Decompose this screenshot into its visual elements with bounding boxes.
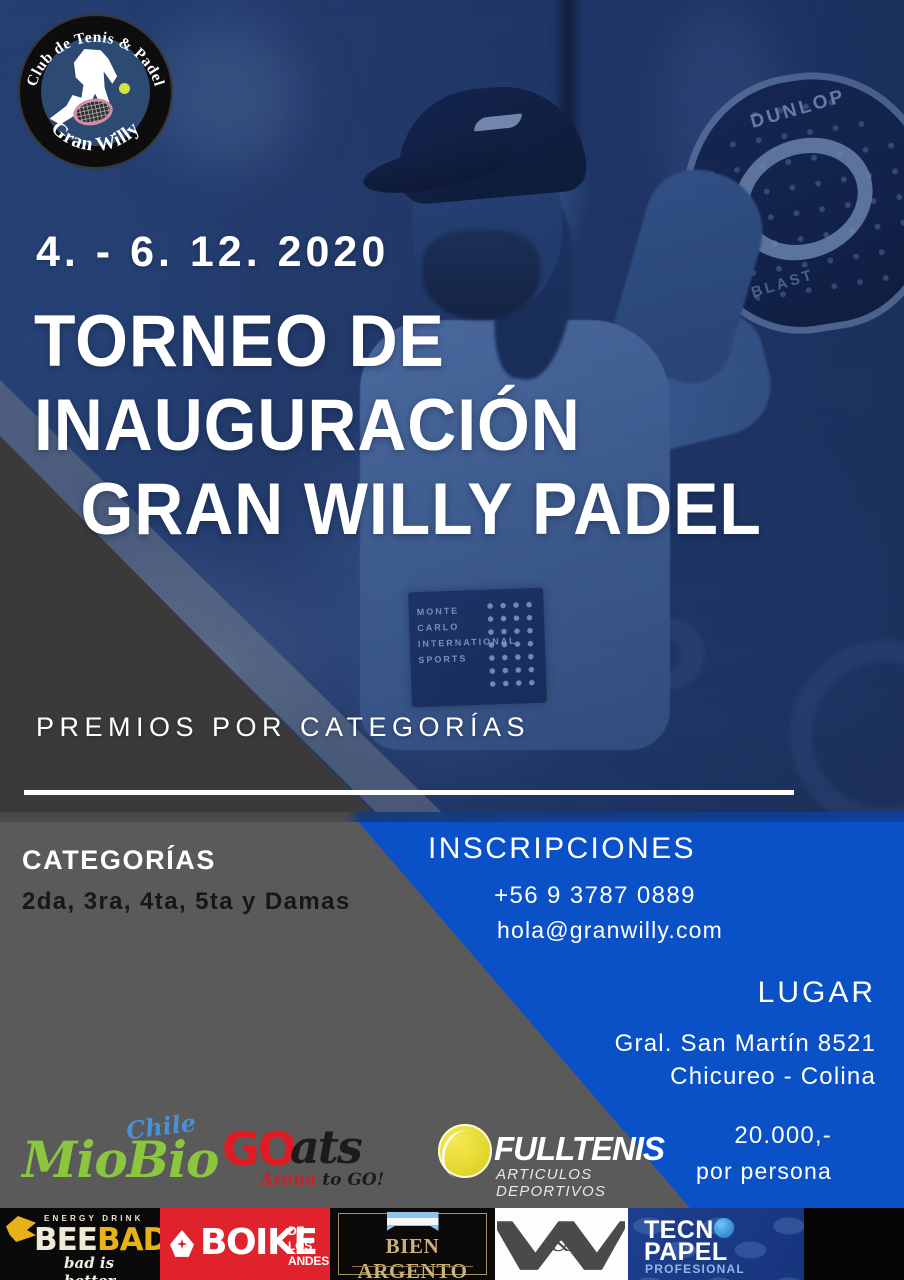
categories-list: 2da, 3ra, 4ta, 5ta y Damas (22, 888, 351, 916)
inscriptions-email[interactable]: hola@granwilly.com (430, 917, 790, 944)
tecnopapel-line-3: PROFESIONAL (645, 1262, 745, 1276)
fulltenis-sub: ARTICULOS DEPORTIVOS (496, 1166, 638, 1200)
miobio-name: MioBio (22, 1130, 218, 1189)
beebad-a: BEE (34, 1222, 97, 1258)
tournament-poster: DP P DUNLOP BLAST MONTE CARLO (0, 0, 904, 1280)
page-title: TORNEO DE INAUGURACIÓN GRAN WILLY PADEL (34, 300, 769, 552)
venue-city: Chicureo - Colina (670, 1063, 876, 1091)
info-band-top-edge (0, 812, 904, 822)
venue-heading: LUGAR (758, 976, 876, 1010)
price-amount: 20.000,- (734, 1122, 832, 1150)
title-line-3: GRAN WILLY PADEL (81, 468, 769, 552)
prizes-text: PREMIOS POR CATEGORÍAS (36, 712, 530, 743)
argento-underline (352, 1266, 473, 1267)
price-unit: por persona (696, 1158, 832, 1185)
goats-tagline: Arena to GO! (260, 1170, 384, 1190)
event-date: 4. - 6. 12. 2020 (36, 228, 389, 277)
sponsor-empty-slot (804, 1208, 904, 1280)
sponsor-beebad: ENERGY DRINK BEEBAD bad is better (0, 1208, 160, 1280)
argento-name: BIEN ARGENTO (330, 1234, 495, 1280)
title-line-2: INAUGURACIÓN (34, 385, 581, 466)
title-line-1: TORNEO DE (34, 301, 445, 382)
sponsor-fulltenis: FULLTENIS ARTICULOS DEPORTIVOS (438, 1120, 638, 1190)
sponsor-boike: BOIKE DE LOS ANDES (160, 1208, 330, 1280)
goats-tagline-b: to GO! (316, 1170, 384, 1190)
boike-sub-1: DE LOS (288, 1224, 312, 1253)
goats-tagline-a: Arena (260, 1170, 316, 1190)
tecnopapel-dot-icon (714, 1218, 734, 1238)
sponsor-wm: & (495, 1208, 628, 1280)
sponsor-strip: ENERGY DRINK BEEBAD bad is better BOIKE … (0, 1208, 904, 1280)
beebad-tagline: bad is better (64, 1254, 160, 1280)
divider-rule (24, 790, 794, 795)
sponsor-goats: GO ats Arena to GO! (222, 1118, 387, 1192)
tennis-ball-seam (435, 1124, 494, 1186)
fulltenis-name: FULLTENIS (494, 1130, 664, 1168)
logo-top-text: Club de Tenis & Padel (23, 29, 167, 89)
logo-curved-text: Club de Tenis & Padel Gran Willy (18, 14, 173, 169)
club-logo: Club de Tenis & Padel Gran Willy (18, 14, 173, 169)
bee-wing-icon (6, 1216, 36, 1242)
goats-ats: ats (290, 1120, 361, 1174)
inscriptions-phone[interactable]: +56 9 3787 0889 (430, 882, 760, 910)
sponsor-bien-argento: BIEN ARGENTO (330, 1208, 495, 1280)
sponsor-tecnopapel: TECN PAPEL PROFESIONAL (628, 1208, 804, 1280)
inscriptions-heading: INSCRIPCIONES (428, 832, 696, 866)
boike-sub: DE LOS ANDES (288, 1224, 330, 1269)
sponsor-miobio: Chile MioBio (22, 1112, 197, 1190)
venue-address: Gral. San Martín 8521 (615, 1030, 876, 1058)
boike-drop-icon (170, 1230, 194, 1258)
beebad-b: BAD (97, 1222, 160, 1258)
categories-heading: CATEGORÍAS (22, 845, 216, 876)
wm-ampersand: & (551, 1230, 570, 1258)
beebad-name: BEEBAD (34, 1222, 160, 1258)
boike-sub-2: ANDES (288, 1254, 329, 1268)
goats-go: GO (222, 1122, 295, 1176)
logo-bottom-text: Gran Willy (47, 117, 144, 156)
tennis-ball-icon (438, 1124, 492, 1178)
